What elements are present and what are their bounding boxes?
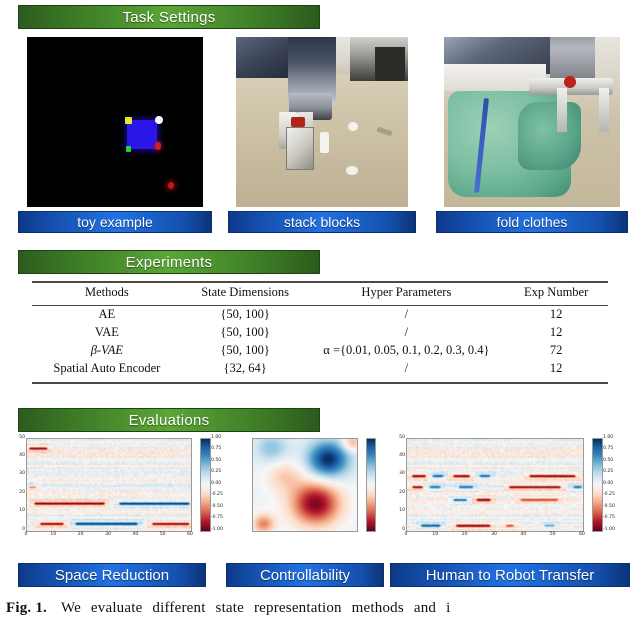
- panel-caption-label: Space Reduction: [55, 567, 169, 584]
- heatmap-canvas-human-to-robot-transfer: [406, 438, 584, 532]
- panel-image-stack-blocks: [236, 37, 408, 207]
- colorbar-tick-label: 0.00: [603, 482, 613, 487]
- panel-caption-controllability: Controllability: [226, 563, 384, 587]
- axis-tick-label: 40: [13, 454, 25, 459]
- colorbar-tick-label: 0.25: [603, 470, 613, 475]
- stack-blocks-photo: [236, 37, 408, 207]
- colorbar-tick-label: -1.00: [603, 528, 615, 533]
- cell-dims: {50, 100}: [182, 305, 309, 323]
- axis-tick-label: 50: [13, 436, 25, 441]
- chart-space-reduction: 01020304050 0102030405060 1.000.750.500.…: [8, 436, 230, 546]
- panel-caption-human-to-robot-transfer: Human to Robot Transfer: [390, 563, 630, 587]
- panel-caption-stack-blocks: stack blocks: [228, 211, 416, 233]
- table-row: AE {50, 100} / 12: [32, 305, 608, 323]
- table-col-exp-number: Exp Number: [504, 281, 608, 305]
- axis-tick-label: 40: [129, 533, 141, 538]
- colorbar-tick-label: -0.25: [211, 493, 223, 498]
- cell-dims: {50, 100}: [182, 323, 309, 341]
- axis-tick-label: 60: [184, 533, 196, 538]
- panel-caption-label: toy example: [77, 214, 152, 230]
- table-rule-mid: [32, 305, 608, 306]
- axis-tick-label: 10: [47, 533, 59, 538]
- axis-tick-label: 10: [429, 533, 441, 538]
- cell-hyper: /: [308, 359, 504, 377]
- axis-tick-label: 0: [400, 533, 412, 538]
- axis-tick-label: 20: [459, 533, 471, 538]
- colorbar-tick-label: -0.75: [211, 516, 223, 521]
- axis-tick-label: 10: [13, 509, 25, 514]
- table-rule-bottom: [32, 382, 608, 384]
- colorbar-tick-label: -0.75: [603, 516, 615, 521]
- figure-root: Task Settings: [0, 0, 640, 619]
- colorbar-tick-label: 0.50: [211, 459, 221, 464]
- colorbar-tick-label: -0.50: [211, 505, 223, 510]
- fold-clothes-photo: [444, 37, 620, 207]
- colorbar-space-reduction: [200, 438, 211, 532]
- panel-caption-space-reduction: Space Reduction: [18, 563, 206, 587]
- experiments-table: Methods State Dimensions Hyper Parameter…: [32, 281, 608, 391]
- panel-image-fold-clothes: [444, 37, 620, 207]
- axis-tick-label: 0: [13, 528, 25, 533]
- cell-hyper: /: [308, 305, 504, 323]
- panel-caption-label: fold clothes: [497, 214, 568, 230]
- colorbar-tick-label: 0.00: [211, 482, 221, 487]
- panel-caption-label: stack blocks: [284, 214, 360, 230]
- cell-hyper: α ={0.01, 0.05, 0.1, 0.2, 0.3, 0.4}: [308, 341, 504, 359]
- colorbar-tick-label: 1.00: [211, 436, 221, 441]
- axis-tick-label: 20: [75, 533, 87, 538]
- table-header-row: Methods State Dimensions Hyper Parameter…: [32, 281, 608, 305]
- panel-caption-label: Human to Robot Transfer: [426, 567, 594, 584]
- table-row: Spatial Auto Encoder {32, 64} / 12: [32, 359, 608, 377]
- toy-blue-square: [127, 120, 157, 149]
- axis-tick-label: 0: [20, 533, 32, 538]
- toy-red-marker-lower: [168, 182, 174, 189]
- axis-tick-label: 30: [488, 533, 500, 538]
- cell-exp: 12: [504, 323, 608, 341]
- cell-dims: {50, 100}: [182, 341, 309, 359]
- panel-caption-label: Controllability: [260, 567, 350, 584]
- axis-tick-label: 40: [517, 533, 529, 538]
- colorbar-tick-label: 0.25: [211, 470, 221, 475]
- axis-tick-label: 30: [393, 472, 405, 477]
- toy-green-marker: [126, 146, 132, 152]
- toy-red-marker-upper: [155, 142, 161, 151]
- heatmap-canvas-controllability: [252, 438, 358, 532]
- section-banner-task-settings: Task Settings: [18, 5, 320, 29]
- table-row: VAE {50, 100} / 12: [32, 323, 608, 341]
- panel-image-toy-example: [27, 37, 203, 207]
- section-banner-label: Task Settings: [122, 9, 215, 26]
- axis-tick-label: 50: [547, 533, 559, 538]
- axis-tick-label: 0: [393, 528, 405, 533]
- axis-tick-label: 50: [393, 436, 405, 441]
- table-col-hyper-parameters: Hyper Parameters: [308, 281, 504, 305]
- cell-exp: 12: [504, 305, 608, 323]
- toy-white-marker: [155, 116, 163, 124]
- cell-exp: 12: [504, 359, 608, 377]
- cell-dims: {32, 64}: [182, 359, 309, 377]
- axis-tick-label: 30: [102, 533, 114, 538]
- colorbar-tick-label: -0.50: [603, 505, 615, 510]
- toy-yellow-marker: [125, 117, 132, 124]
- cell-exp: 72: [504, 341, 608, 359]
- panel-caption-fold-clothes: fold clothes: [436, 211, 628, 233]
- cell-method: AE: [32, 305, 182, 323]
- panel-caption-toy-example: toy example: [18, 211, 212, 233]
- colorbar-tick-label: -1.00: [211, 528, 223, 533]
- axis-tick-label: 40: [393, 454, 405, 459]
- axis-tick-label: 50: [157, 533, 169, 538]
- cell-method: Spatial Auto Encoder: [32, 359, 182, 377]
- axis-tick-label: 20: [13, 491, 25, 496]
- figure-caption-label: Fig. 1.: [6, 600, 47, 616]
- axis-tick-label: 30: [13, 472, 25, 477]
- colorbar-tick-label: 0.75: [211, 447, 221, 452]
- colorbar-tick-label: 1.00: [603, 436, 613, 441]
- colorbar-controllability: [366, 438, 376, 532]
- cell-method: β-VAE: [32, 341, 182, 359]
- colorbar-tick-label: 0.75: [603, 447, 613, 452]
- chart-controllability: [238, 436, 388, 546]
- axis-tick-label: 10: [393, 509, 405, 514]
- section-banner-label: Evaluations: [129, 412, 210, 429]
- section-banner-experiments: Experiments: [18, 250, 320, 274]
- cell-method: VAE: [32, 323, 182, 341]
- colorbar-human-to-robot-transfer: [592, 438, 603, 532]
- table-col-state-dimensions: State Dimensions: [182, 281, 309, 305]
- table-row: β-VAE {50, 100} α ={0.01, 0.05, 0.1, 0.2…: [32, 341, 608, 359]
- chart-human-to-robot-transfer: 01020304050 0102030405060 1.000.750.500.…: [388, 436, 634, 546]
- section-banner-label: Experiments: [126, 254, 213, 271]
- colorbar-tick-label: -0.25: [603, 493, 615, 498]
- figure-caption: Fig. 1. We evaluate different state repr…: [6, 600, 634, 617]
- cell-hyper: /: [308, 323, 504, 341]
- table-rule-top: [32, 281, 608, 283]
- axis-tick-label: 20: [393, 491, 405, 496]
- axis-tick-label: 60: [576, 533, 588, 538]
- section-banner-evaluations: Evaluations: [18, 408, 320, 432]
- heatmap-canvas-space-reduction: [26, 438, 192, 532]
- colorbar-tick-label: 0.50: [603, 459, 613, 464]
- figure-caption-text: We evaluate different state representati…: [61, 600, 451, 616]
- table-col-methods: Methods: [32, 281, 182, 305]
